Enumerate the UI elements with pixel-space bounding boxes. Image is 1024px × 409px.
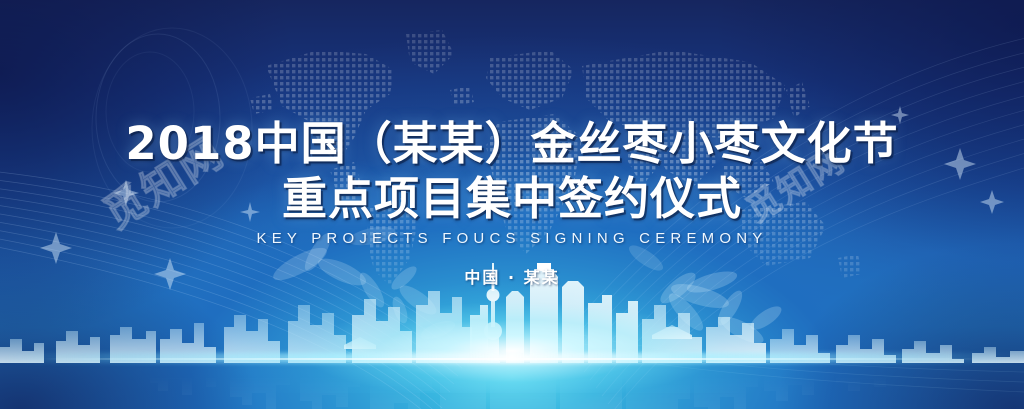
event-poster-banner: 觅知网 觅知网 bbox=[0, 0, 1024, 409]
city-skyline-reflection bbox=[0, 363, 1024, 409]
horizon-glow-core bbox=[0, 358, 1024, 360]
poster-title-line-2: 重点项目集中签约仪式 bbox=[0, 172, 1024, 225]
poster-subtitle-location: 中国 · 某某 bbox=[0, 264, 1024, 288]
poster-title-line-1: 2018中国（某某）金丝枣小枣文化节 bbox=[0, 118, 1024, 170]
headline-block: 2018中国（某某）金丝枣小枣文化节 重点项目集中签约仪式 KEY PROJEC… bbox=[0, 118, 1024, 288]
poster-subtitle-english: KEY PROJECTS FOUCS SIGNING CEREMONY bbox=[0, 230, 1024, 247]
